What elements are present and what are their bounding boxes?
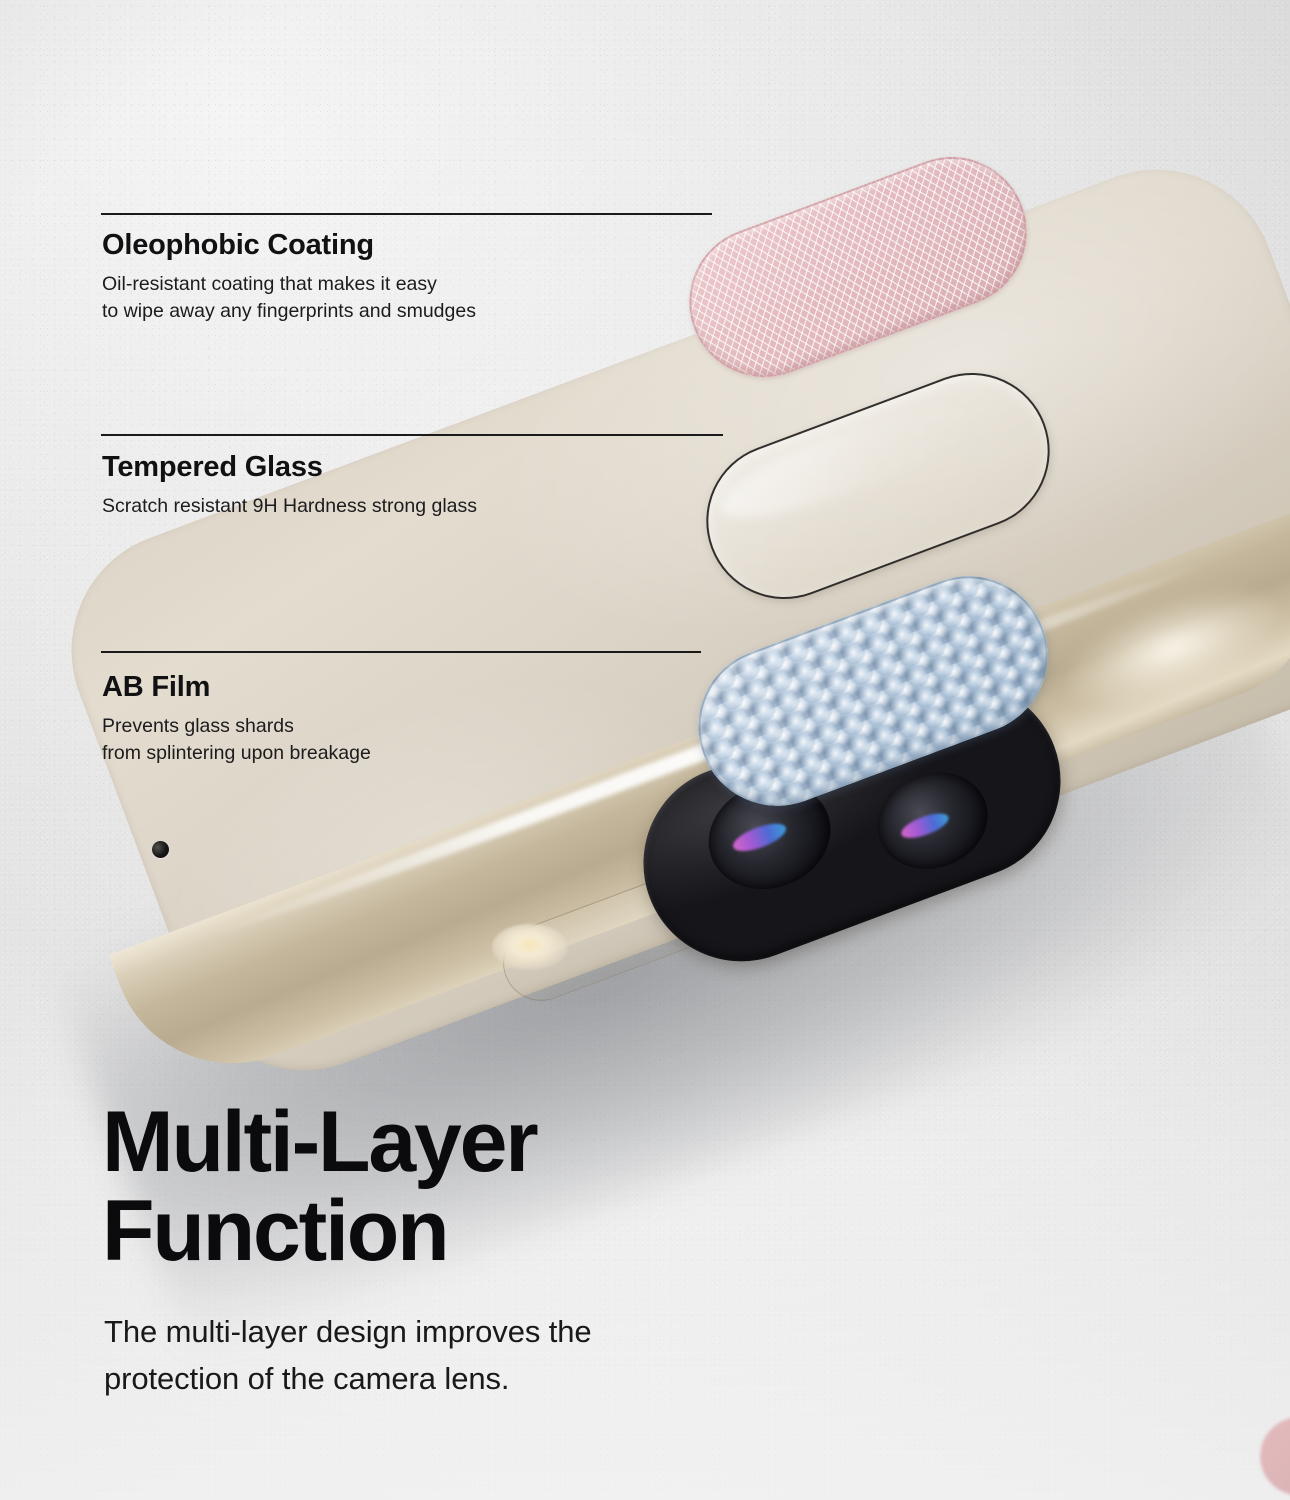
callout-description: Oil-resistant coating that makes it easy…	[102, 271, 476, 325]
callout-description: Scratch resistant 9H Hardness strong gla…	[102, 493, 477, 520]
callout-oleophobic-coating: Oleophobic Coating Oil-resistant coating…	[102, 228, 476, 325]
callout-title: AB Film	[102, 670, 371, 704]
callout-tempered-glass: Tempered Glass Scratch resistant 9H Hard…	[102, 450, 477, 520]
leader-line-oleophobic	[101, 213, 712, 215]
callout-description: Prevents glass shards from splintering u…	[102, 713, 371, 767]
callout-ab-film: AB Film Prevents glass shards from splin…	[102, 670, 371, 767]
callout-title: Tempered Glass	[102, 450, 477, 484]
headline-title: Multi-Layer Function	[102, 1098, 537, 1275]
leader-line-ab-film	[101, 651, 701, 653]
callout-title: Oleophobic Coating	[102, 228, 476, 262]
camera-flash-core	[514, 936, 544, 954]
headline-subtitle: The multi-layer design improves the prot…	[104, 1308, 592, 1402]
leader-line-tempered-glass	[101, 434, 723, 436]
infographic-canvas: Oleophobic Coating Oil-resistant coating…	[0, 0, 1290, 1500]
